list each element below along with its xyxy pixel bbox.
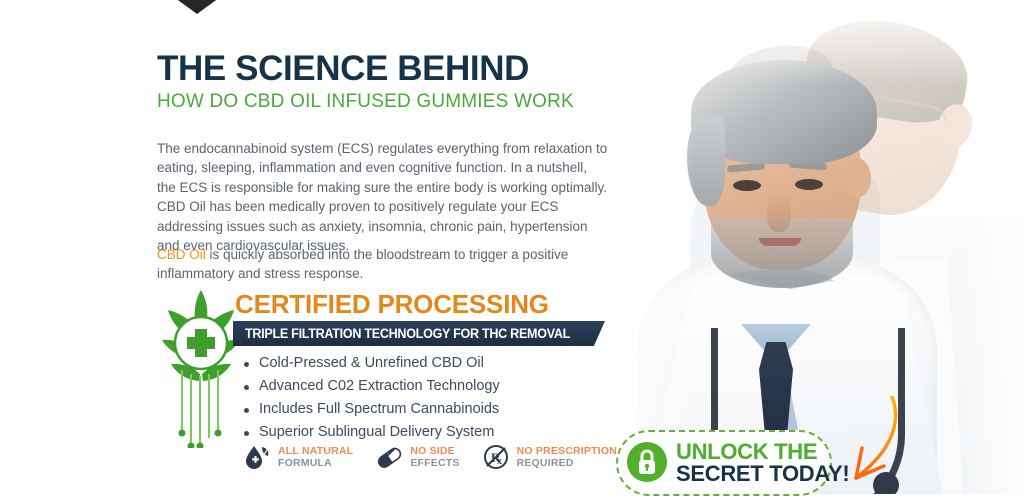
badge-text: ALL NATURAL FORMULA xyxy=(278,445,353,470)
promo-section: THE SCIENCE BEHIND HOW DO CBD OIL INFUSE… xyxy=(0,0,1024,499)
trust-badges: ALL NATURAL FORMULA NO SIDE EFFECTS xyxy=(243,443,617,471)
list-item: Cold-Pressed & Unrefined CBD Oil xyxy=(244,352,500,375)
page-title: THE SCIENCE BEHIND xyxy=(157,51,529,86)
badge-text: NO SIDE EFFECTS xyxy=(410,445,459,470)
triple-filtration-banner-text: TRIPLE FILTRATION TECHNOLOGY FOR THC REM… xyxy=(245,326,570,341)
cbd-oil-highlight: CBD Oil xyxy=(157,247,206,262)
badge-line-1: NO SIDE xyxy=(410,445,459,458)
badge-line-1: ALL NATURAL xyxy=(278,445,353,458)
badge-line-2: EFFECTS xyxy=(410,457,459,470)
certified-processing-title: CERTIFIED PROCESSING xyxy=(235,291,549,317)
unlock-secret-cta-button[interactable]: UNLOCK THE SECRET TODAY! xyxy=(616,430,832,496)
cta-line-2: SECRET TODAY! xyxy=(676,463,849,485)
badge-no-side-effects: NO SIDE EFFECTS xyxy=(375,443,459,471)
badge-line-2: FORMULA xyxy=(278,457,353,470)
cannabis-leaf-cross-icon xyxy=(160,288,242,448)
badge-line-1: NO PRESCRIPTION xyxy=(517,445,617,458)
body-paragraph-2-rest: is quickly absorbed into the bloodstream… xyxy=(157,247,568,282)
doctors-photo xyxy=(600,0,1024,494)
body-paragraph-1: The endocannabinoid system (ECS) regulat… xyxy=(157,139,609,256)
droplet-plus-leaf-icon xyxy=(243,443,271,471)
pill-capsule-slash-icon xyxy=(375,443,403,471)
badge-text: NO PRESCRIPTION REQUIRED xyxy=(517,445,617,470)
badge-line-2: REQUIRED xyxy=(517,457,617,470)
svg-text:x: x xyxy=(497,456,502,467)
badge-no-prescription: R x NO PRESCRIPTION REQUIRED xyxy=(482,443,617,471)
rx-no-prescription-icon: R x xyxy=(482,443,510,471)
list-item: Superior Sublingual Delivery System xyxy=(244,421,500,444)
body-paragraph-2: CBD Oil is quickly absorbed into the blo… xyxy=(157,245,609,284)
curved-arrow-down-left-icon xyxy=(826,396,936,496)
cta-line-1: UNLOCK THE xyxy=(676,441,817,463)
list-item: Includes Full Spectrum Cannabinoids xyxy=(244,398,500,421)
certified-bullet-list: Cold-Pressed & Unrefined CBD Oil Advance… xyxy=(244,352,500,444)
lock-icon xyxy=(626,441,668,483)
triple-filtration-banner: TRIPLE FILTRATION TECHNOLOGY FOR THC REM… xyxy=(233,321,605,346)
badge-all-natural: ALL NATURAL FORMULA xyxy=(243,443,353,471)
header-chevron-tab xyxy=(123,0,271,14)
list-item: Advanced C02 Extraction Technology xyxy=(244,375,500,398)
page-subtitle: HOW DO CBD OIL INFUSED GUMMIES WORK xyxy=(157,92,574,111)
